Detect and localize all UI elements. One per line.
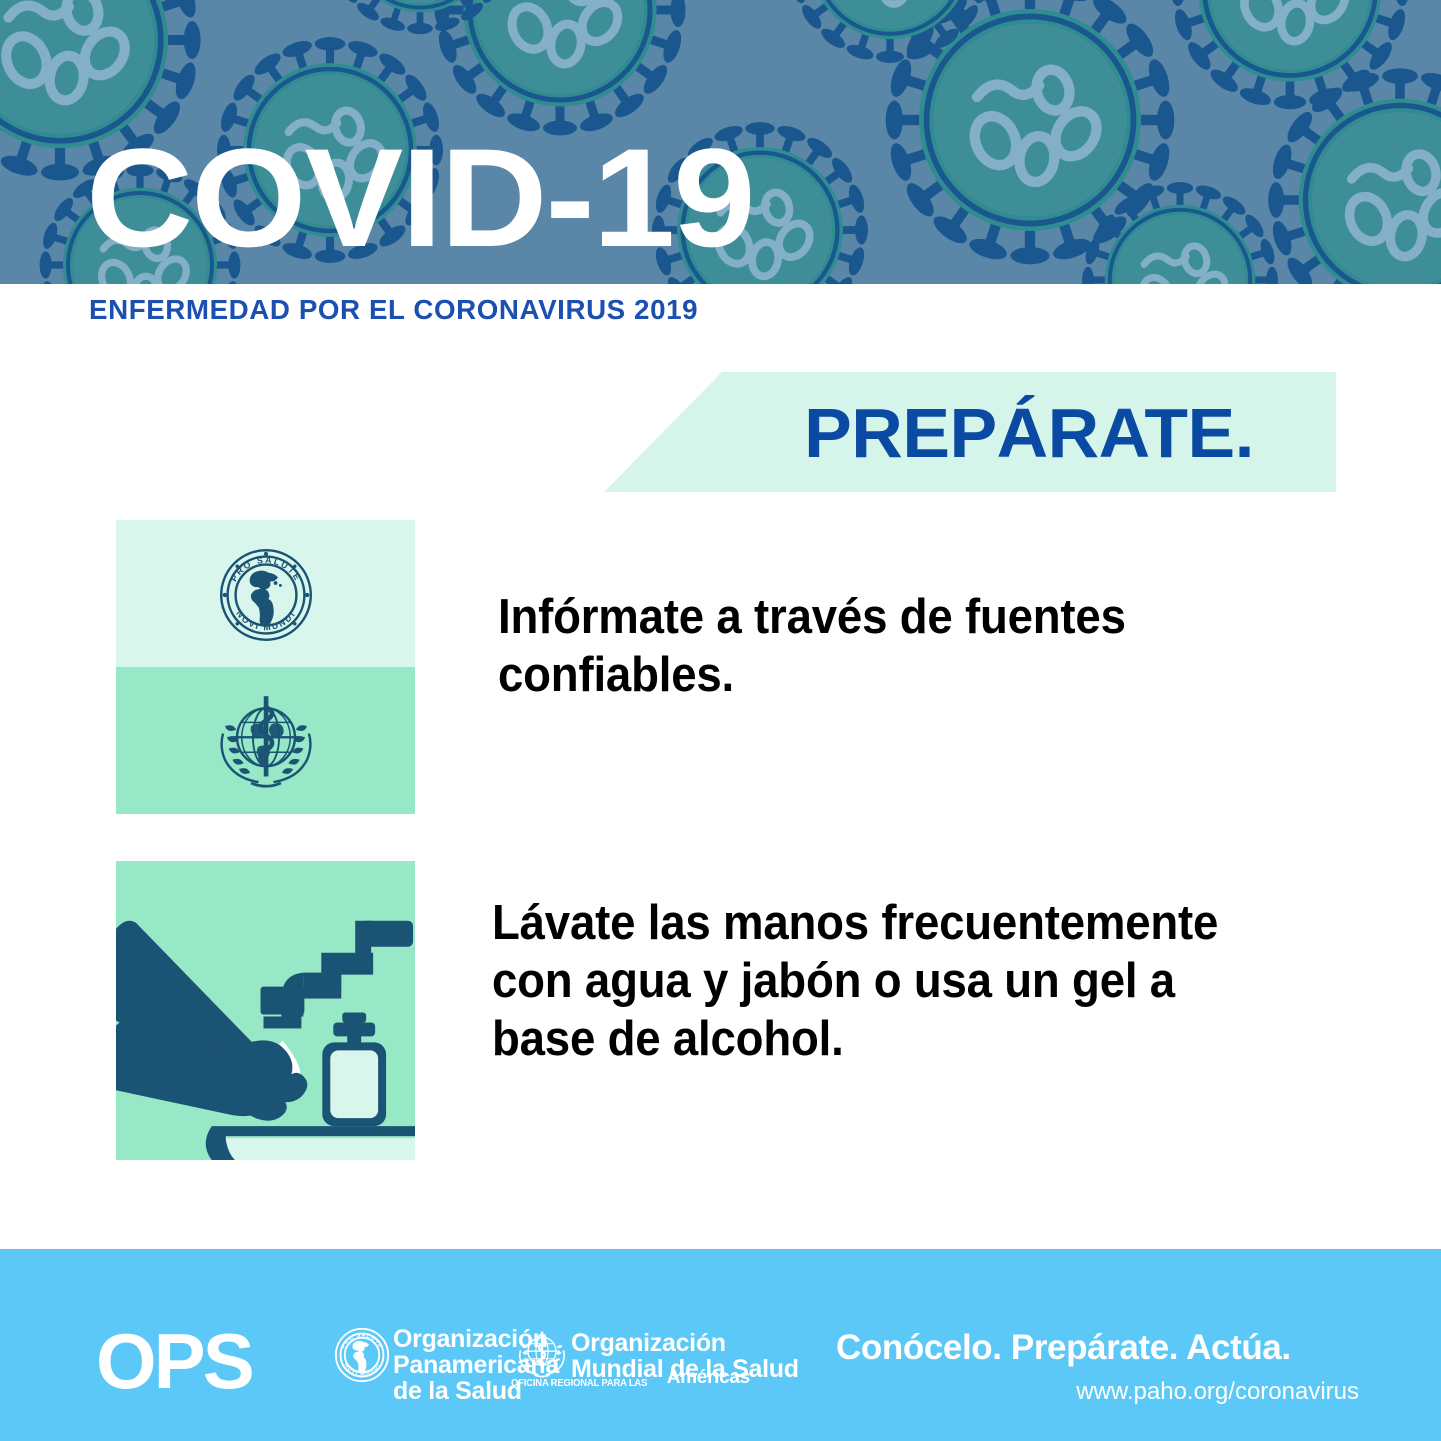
page-subtitle: ENFERMEDAD POR EL CORONAVIRUS 2019 bbox=[89, 294, 698, 326]
footer-paho-seal-icon: PRO SALUTE NOVI MUNDI bbox=[334, 1327, 390, 1383]
who-regional-office-label: OFICINA REGIONAL PARA LAS Américas bbox=[511, 1367, 750, 1389]
footer-url[interactable]: www.paho.org/coronavirus bbox=[1076, 1378, 1359, 1406]
icon-box-handwashing bbox=[116, 861, 415, 1160]
ops-wordmark: OPS bbox=[96, 1322, 252, 1400]
item-text-informate: Infórmate a través de fuentes confiables… bbox=[498, 588, 1270, 704]
icon-box-paho-who-logos: PRO SALUTE NOVI MUNDI bbox=[116, 520, 415, 814]
paho-seal-icon: PRO SALUTE NOVI MUNDI bbox=[212, 547, 320, 643]
who-regional-region: Américas bbox=[667, 1367, 750, 1388]
who-regional-prefix: OFICINA REGIONAL PARA LAS bbox=[511, 1377, 647, 1389]
footer-tagline: Conócelo. Prepárate. Actúa. bbox=[836, 1328, 1291, 1368]
covid-poster: COVID-19 ENFERMEDAD POR EL CORONAVIRUS 2… bbox=[0, 0, 1441, 1441]
who-emblem-icon bbox=[208, 685, 324, 797]
prepare-banner: PREPÁRATE. bbox=[604, 372, 1336, 492]
item-text-lavate: Lávate las manos frecuentemente con agua… bbox=[492, 894, 1227, 1068]
handwashing-icon bbox=[116, 861, 415, 1160]
prepare-banner-label: PREPÁRATE. bbox=[804, 394, 1254, 472]
page-title: COVID-19 bbox=[86, 136, 754, 260]
